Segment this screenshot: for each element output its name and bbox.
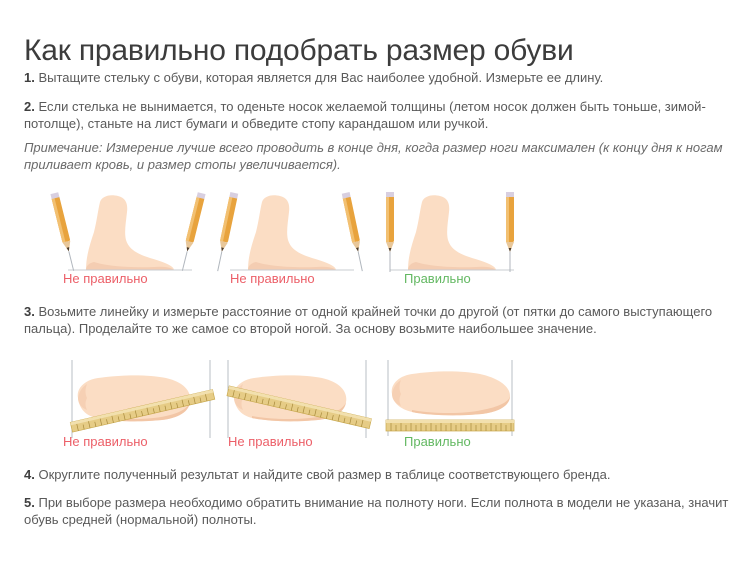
- caption-ruler-1: Не правильно: [63, 434, 148, 449]
- pencil-left-icon: [50, 192, 77, 272]
- step-5-paragraph: 5. При выборе размера необходимо обратит…: [24, 494, 730, 528]
- foot-side-icon: [408, 195, 496, 270]
- step-1-paragraph: 1. Вытащите стельку с обуви, которая явл…: [24, 69, 730, 86]
- caption-pencil-2: Не правильно: [230, 271, 315, 286]
- caption-ruler-3: Правильно: [404, 434, 471, 449]
- figure-row-rulers: [0, 358, 750, 468]
- step-3-text: Возьмите линейку и измерьте расстояние о…: [24, 304, 712, 336]
- step-3-number: 3.: [24, 304, 35, 319]
- pencil-right-icon: [506, 192, 514, 272]
- step-4-paragraph: 4. Округлите полученный результат и найд…: [24, 466, 730, 483]
- step-4-text: Округлите полученный результат и найдите…: [38, 467, 610, 482]
- step-4-number: 4.: [24, 467, 35, 482]
- step-5-text: При выборе размера необходимо обратить в…: [24, 495, 728, 527]
- pencil-left-icon: [214, 192, 238, 272]
- article-page: Как правильно подобрать размер обуви 1. …: [0, 0, 750, 564]
- caption-pencil-1: Не правильно: [63, 271, 148, 286]
- foot-top-icon: [392, 371, 510, 415]
- step-1-text: Вытащите стельку с обуви, которая являет…: [38, 70, 603, 85]
- step-3-paragraph: 3. Возьмите линейку и измерьте расстояни…: [24, 303, 730, 337]
- pencil-left-icon: [386, 192, 394, 272]
- step-2-text: Если стелька не вынимается, то оденьте н…: [24, 99, 706, 131]
- ruler-icon: [386, 420, 514, 431]
- foot-side-icon: [86, 195, 174, 270]
- step-2-paragraph: 2. Если стелька не вынимается, то оденьт…: [24, 98, 730, 132]
- step-5-number: 5.: [24, 495, 35, 510]
- page-title: Как правильно подобрать размер обуви: [24, 34, 574, 68]
- step-1-number: 1.: [24, 70, 35, 85]
- step-2-number: 2.: [24, 99, 35, 114]
- caption-ruler-2: Не правильно: [228, 434, 313, 449]
- caption-pencil-3: Правильно: [404, 271, 471, 286]
- measurement-note: Примечание: Измерение лучше всего провод…: [24, 139, 730, 173]
- foot-side-icon: [248, 195, 336, 270]
